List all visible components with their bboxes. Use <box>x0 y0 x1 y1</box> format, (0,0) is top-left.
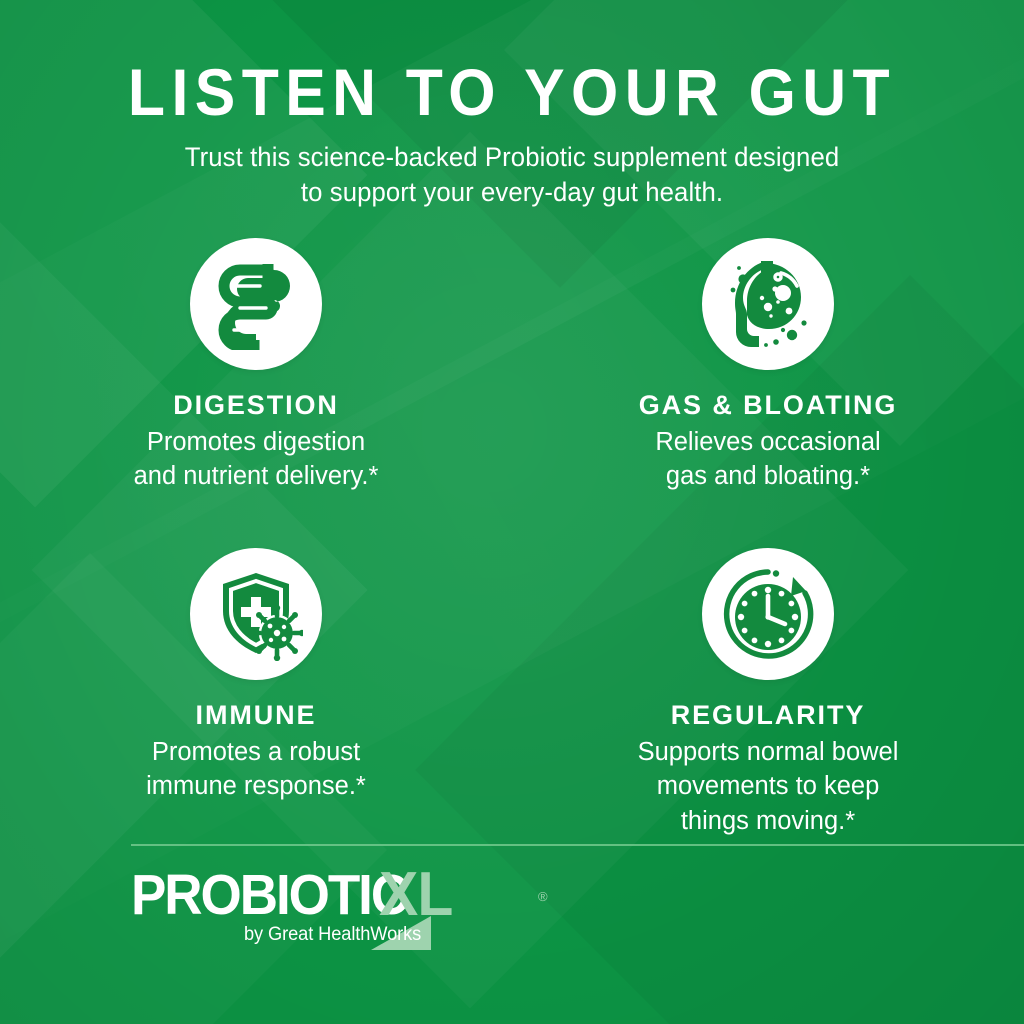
benefit-description: Promotes digestion and nutrient delivery… <box>134 425 379 493</box>
shield-virus-icon <box>190 548 322 680</box>
benefit-card-gas-bloating: GAS & BLOATING Relieves occasional gas a… <box>512 238 1024 493</box>
benefit-card-digestion: DIGESTION Promotes digestion and nutrien… <box>0 238 512 493</box>
logo-primary-text: PROBIOTIC <box>131 864 407 926</box>
page-title: LISTEN TO YOUR GUT <box>41 58 983 128</box>
benefit-description: Relieves occasional gas and bloating.* <box>655 425 880 493</box>
benefit-card-immune: IMMUNE Promotes a robust immune response… <box>0 548 512 837</box>
promo-graphic: LISTEN TO YOUR GUT Trust this science-ba… <box>0 0 1024 1024</box>
logo-wordmark: PROBIOTIC XL ® <box>131 864 561 926</box>
registered-trademark-icon: ® <box>538 866 548 928</box>
stomach-bubbles-icon <box>702 238 834 370</box>
page-subtitle: Trust this science-backed Probiotic supp… <box>15 140 1008 210</box>
benefit-description: Supports normal bowel movements to keep … <box>638 735 899 837</box>
benefit-title: REGULARITY <box>671 700 866 731</box>
intestine-icon <box>190 238 322 370</box>
benefit-title: DIGESTION <box>173 390 339 421</box>
benefit-card-regularity: REGULARITY Supports normal bowel movemen… <box>512 548 1024 837</box>
benefits-row: DIGESTION Promotes digestion and nutrien… <box>0 238 1024 493</box>
benefit-title: GAS & BLOATING <box>639 390 898 421</box>
brand-logo: PROBIOTIC XL ® by Great HealthWorks <box>131 864 561 974</box>
benefit-title: IMMUNE <box>196 700 317 731</box>
footer-divider <box>131 844 1024 846</box>
clock-arrow-icon <box>702 548 834 680</box>
logo-accent-text: XL <box>379 864 452 926</box>
benefit-description: Promotes a robust immune response.* <box>146 735 366 803</box>
subtitle-line-2: to support your every-day gut health. <box>15 175 1008 210</box>
logo-byline: by Great HealthWorks <box>244 924 421 946</box>
benefits-row: IMMUNE Promotes a robust immune response… <box>0 548 1024 837</box>
benefits-grid: DIGESTION Promotes digestion and nutrien… <box>0 238 1024 838</box>
logo-accent-group: XL ® <box>379 864 456 926</box>
subtitle-line-1: Trust this science-backed Probiotic supp… <box>185 142 839 172</box>
